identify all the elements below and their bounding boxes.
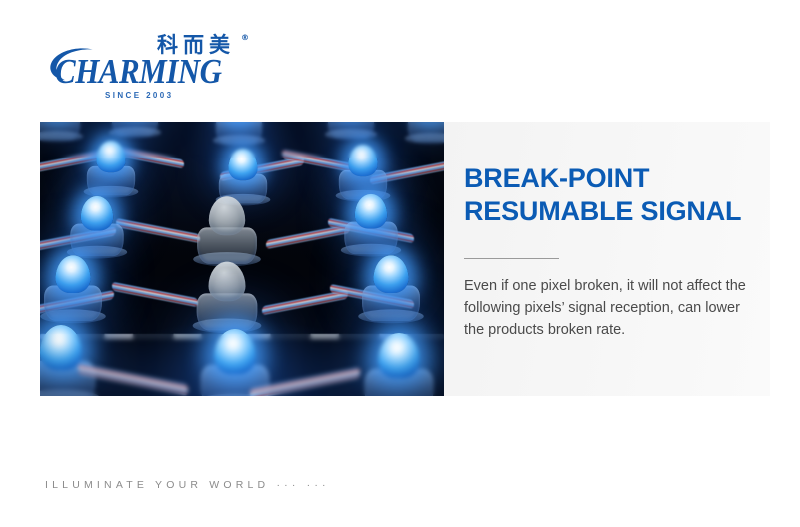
photo-backdrop: [40, 122, 444, 396]
led-module: [216, 122, 262, 144]
led-product-photo: [40, 122, 444, 396]
led-module: [40, 122, 80, 140]
led-module: [339, 145, 387, 200]
led-module: [40, 325, 96, 396]
brand-wordmark: CHARMING: [55, 54, 222, 89]
headline-divider: [464, 258, 559, 259]
led-module: [344, 194, 397, 254]
feature-headline: BREAK-POINT RESUMABLE SIGNAL: [464, 162, 749, 228]
led-module: [112, 122, 158, 136]
led-module-unlit: [197, 262, 258, 331]
brand-wordmark-initial: C: [55, 52, 75, 91]
led-module: [328, 122, 374, 138]
led-module: [219, 149, 267, 204]
led-module: [365, 333, 434, 396]
brand-since: SINCE 2003: [105, 91, 173, 100]
feature-body-text: Even if one pixel broken, it will not af…: [464, 275, 749, 341]
led-wire: [112, 282, 198, 308]
led-wire: [116, 218, 200, 243]
footer-tagline: ILLUMINATE YOUR WORLD ··· ···: [45, 479, 330, 491]
led-module: [408, 122, 444, 142]
feature-text-panel: BREAK-POINT RESUMABLE SIGNAL Even if one…: [444, 122, 777, 396]
registered-trademark-icon: ®: [241, 33, 249, 42]
feature-band: BREAK-POINT RESUMABLE SIGNAL Even if one…: [40, 122, 770, 396]
led-module: [87, 141, 135, 196]
led-module: [44, 255, 102, 321]
led-module: [70, 196, 123, 256]
led-module: [362, 255, 420, 321]
led-module-unlit: [197, 196, 257, 264]
brand-logo: 科而美 ® CHARMING SINCE 2003: [45, 33, 275, 93]
brand-wordmark-rest: HARMING: [75, 52, 221, 91]
